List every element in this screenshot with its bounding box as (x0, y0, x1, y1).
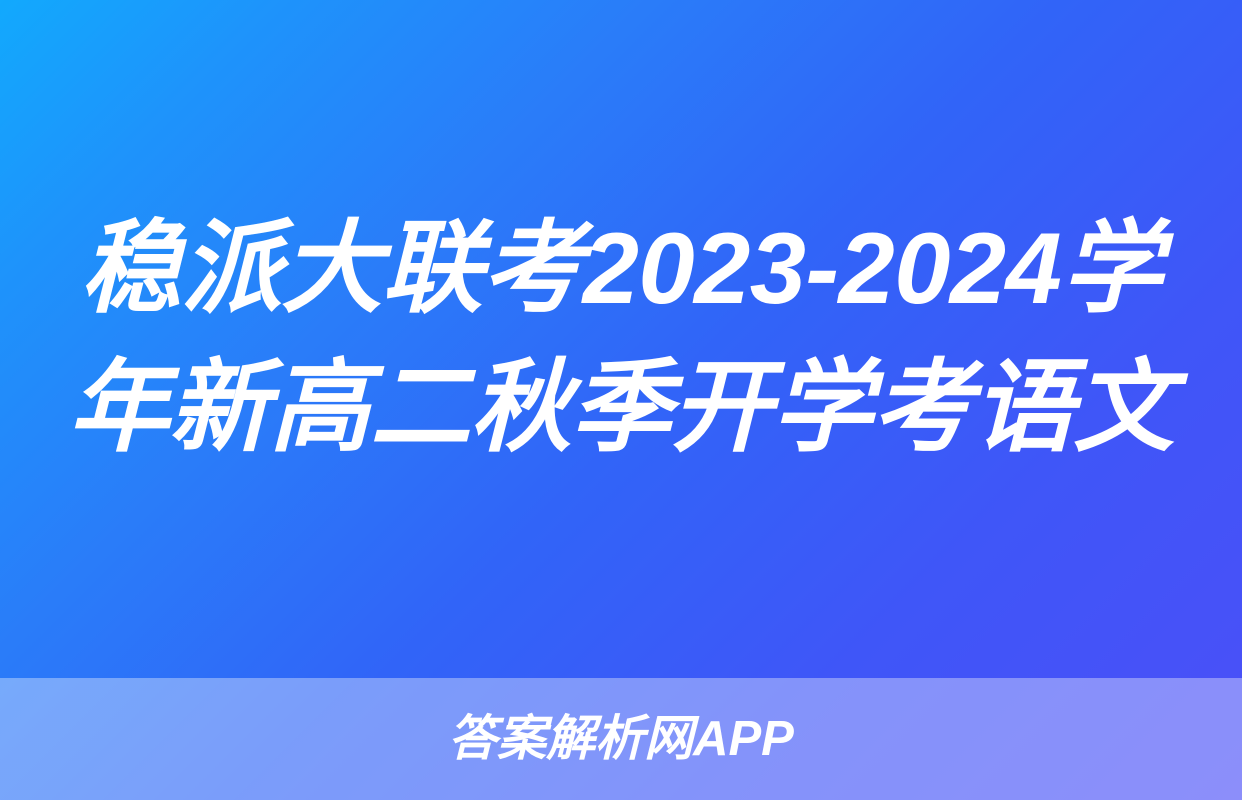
page-title: 稳派大联考2023-2024学年新高二秋季开学考语文 (68, 200, 1174, 479)
headline-container: 稳派大联考2023-2024学年新高二秋季开学考语文 (0, 0, 1242, 678)
watermark-band: 答案解析网APP (0, 678, 1242, 800)
watermark-label: 答案解析网APP (448, 715, 794, 764)
exam-title-poster: 稳派大联考2023-2024学年新高二秋季开学考语文 答案解析网APP (0, 0, 1242, 800)
